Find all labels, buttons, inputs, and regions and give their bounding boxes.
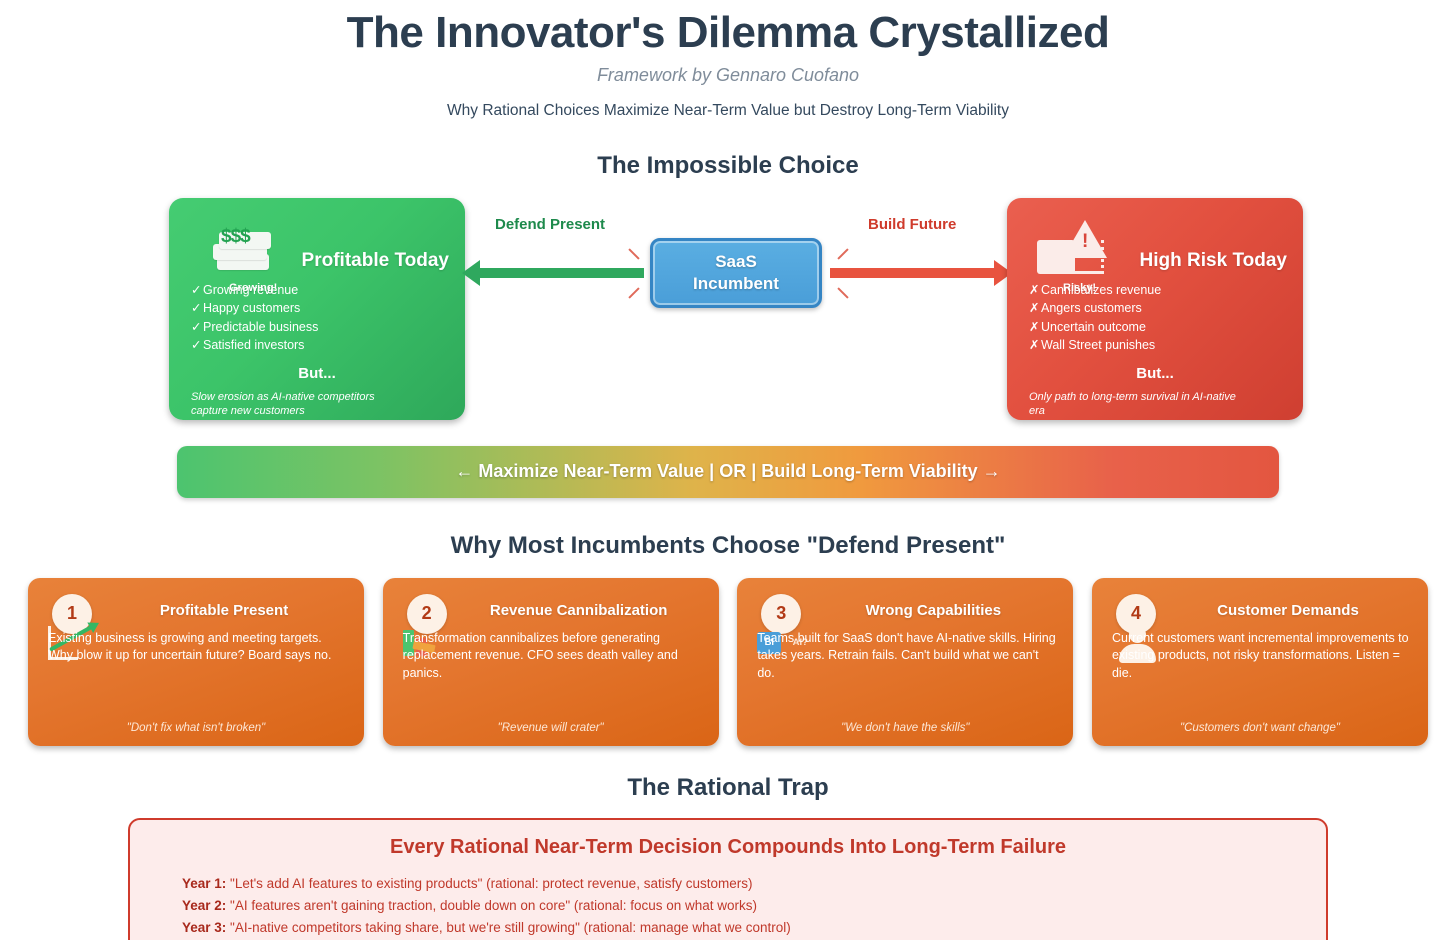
reason-card-customer-demands: 4 Customer Demands Current customers wan…: [1092, 578, 1428, 746]
list-item: ✓Satisfied investors: [191, 336, 318, 355]
list-item-label: Angers customers: [1041, 301, 1142, 315]
cross-icon: ✗: [1029, 336, 1041, 355]
list-item: ✗Cannibalizes revenue: [1029, 281, 1161, 300]
section-heading-rational-trap: The Rational Trap: [0, 774, 1456, 802]
list-item-label: Wall Street punishes: [1041, 338, 1155, 352]
reason-title: Profitable Present: [98, 602, 350, 619]
dollars-label: $$$: [221, 226, 250, 248]
spectrum-label: ← Maximize Near-Term Value | OR | Build …: [455, 461, 1000, 482]
list-item-label: Cannibalizes revenue: [1041, 283, 1161, 297]
green-card-title: Profitable Today: [169, 250, 449, 272]
reason-body: Existing business is growing and meeting…: [48, 630, 348, 665]
trap-line: Year 2: "AI features aren't gaining trac…: [182, 895, 1274, 917]
list-item: ✗Wall Street punishes: [1029, 336, 1161, 355]
list-item-label: Satisfied investors: [203, 338, 304, 352]
reason-title: Wrong Capabilities: [807, 602, 1059, 619]
reason-card-profitable-present: 1 Profitable Present Existing business i…: [28, 578, 364, 746]
cross-icon: ✗: [1029, 299, 1041, 318]
subtitle: Why Rational Choices Maximize Near-Term …: [0, 102, 1456, 120]
trap-year-label: Year 2:: [182, 898, 226, 913]
list-item-label: Uncertain outcome: [1041, 320, 1146, 334]
spark-icon: [628, 248, 639, 259]
list-item: ✗Angers customers: [1029, 299, 1161, 318]
defend-present-arrow: [479, 268, 644, 278]
rational-trap-box: Every Rational Near-Term Decision Compou…: [128, 818, 1328, 940]
reason-card-wrong-capabilities: 3 BI AI? Wrong Capabilities Teams built …: [737, 578, 1073, 746]
red-card-list: ✗Cannibalizes revenue ✗Angers customers …: [1029, 281, 1161, 355]
check-icon: ✓: [191, 299, 203, 318]
reason-card-revenue-cannibalization: 2 Revenue Cannibalization Transformation…: [383, 578, 719, 746]
section-heading-impossible-choice: The Impossible Choice: [0, 152, 1456, 180]
trap-line-text: "AI features aren't gaining traction, do…: [226, 898, 757, 913]
list-item: ✓Growing revenue: [191, 281, 318, 300]
red-card-title: High Risk Today: [1007, 250, 1287, 272]
trap-line: Year 3: "AI-native competitors taking sh…: [182, 917, 1274, 939]
list-item: ✓Happy customers: [191, 299, 318, 318]
infographic-root: The Innovator's Dilemma Crystallized Fra…: [0, 0, 1456, 940]
choice-card-high-risk-today: ! Risky! High Risk Today ✗Cannibalizes r…: [1007, 198, 1303, 420]
green-card-list: ✓Growing revenue ✓Happy customers ✓Predi…: [191, 281, 318, 355]
spark-icon: [837, 287, 848, 298]
reason-title: Revenue Cannibalization: [453, 602, 705, 619]
green-card-footnote: Slow erosion as AI-native competitors ca…: [191, 390, 401, 418]
defend-present-label: Defend Present: [495, 216, 605, 233]
reason-quote: "Customers don't want change": [1092, 722, 1428, 734]
check-icon: ✓: [191, 281, 203, 300]
list-item: ✗Uncertain outcome: [1029, 318, 1161, 337]
reason-card-row: 1 Profitable Present Existing business i…: [0, 578, 1456, 746]
reason-quote: "We don't have the skills": [737, 722, 1073, 734]
page-title: The Innovator's Dilemma Crystallized: [0, 0, 1456, 59]
green-card-but-label: But...: [169, 365, 465, 382]
spark-icon: [628, 287, 639, 298]
reason-body: Current customers want incremental impro…: [1112, 630, 1412, 683]
trap-year-label: Year 1:: [182, 876, 226, 891]
reason-title: Customer Demands: [1162, 602, 1414, 619]
byline: Framework by Gennaro Cuofano: [0, 65, 1456, 86]
choice-card-profitable-today: $$$ Growing! Profitable Today ✓Growing r…: [169, 198, 465, 420]
cross-icon: ✗: [1029, 318, 1041, 337]
section-heading-why-defend: Why Most Incumbents Choose "Defend Prese…: [0, 532, 1456, 560]
check-icon: ✓: [191, 318, 203, 337]
trap-year-label: Year 3:: [182, 920, 226, 935]
center-node-line2: Incumbent: [693, 273, 779, 295]
center-node-line1: SaaS: [715, 251, 757, 273]
list-item-label: Growing revenue: [203, 283, 298, 297]
trap-title: Every Rational Near-Term Decision Compou…: [182, 836, 1274, 859]
trap-line-text: "AI-native competitors taking share, but…: [226, 920, 790, 935]
choice-row: $$$ Growing! Profitable Today ✓Growing r…: [0, 198, 1456, 420]
red-card-but-label: But...: [1007, 365, 1303, 382]
build-future-label: Build Future: [868, 216, 956, 233]
trap-line: Year 1: "Let's add AI features to existi…: [182, 873, 1274, 895]
red-card-footnote: Only path to long-term survival in AI-na…: [1029, 390, 1239, 418]
saas-incumbent-node: SaaS Incumbent: [650, 238, 822, 308]
list-item-label: Predictable business: [203, 320, 318, 334]
reason-body: Transformation cannibalizes before gener…: [403, 630, 703, 683]
reason-quote: "Revenue will crater": [383, 722, 719, 734]
list-item: ✓Predictable business: [191, 318, 318, 337]
spark-icon: [837, 248, 848, 259]
build-future-arrow: [830, 268, 995, 278]
reason-quote: "Don't fix what isn't broken": [28, 722, 364, 734]
cross-icon: ✗: [1029, 281, 1041, 300]
check-icon: ✓: [191, 336, 203, 355]
trap-line-text: "Let's add AI features to existing produ…: [226, 876, 752, 891]
tradeoff-spectrum-bar: ← Maximize Near-Term Value | OR | Build …: [177, 446, 1279, 498]
list-item-label: Happy customers: [203, 301, 300, 315]
reason-body: Teams built for SaaS don't have AI-nativ…: [757, 630, 1057, 683]
